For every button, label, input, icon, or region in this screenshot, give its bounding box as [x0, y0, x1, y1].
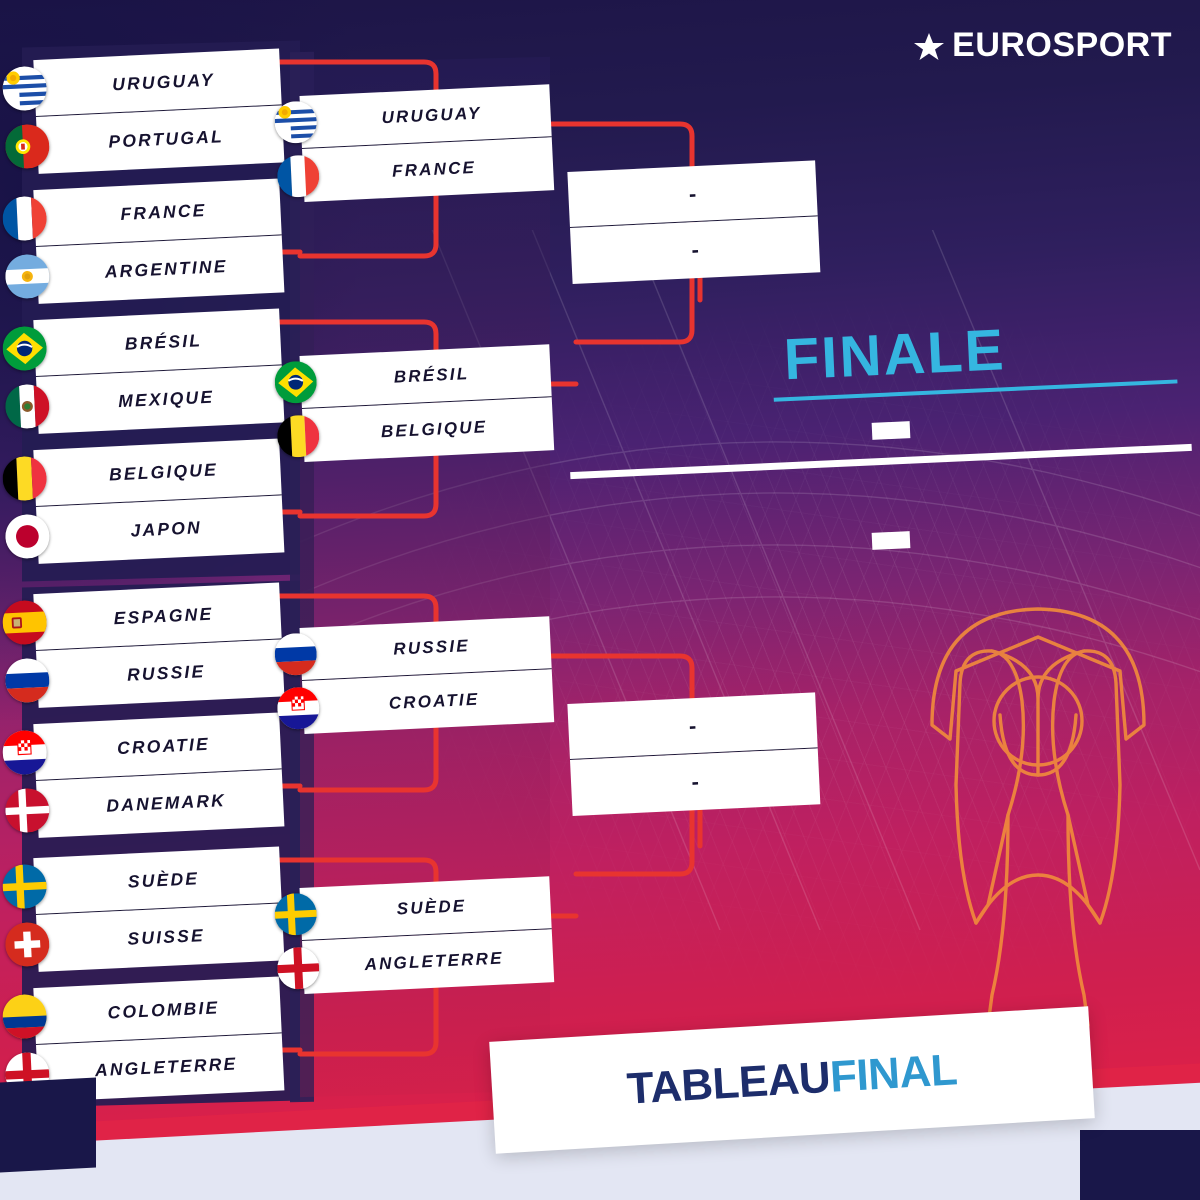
spain-flag	[2, 599, 48, 645]
match-box: SUÈDESUISSE	[33, 846, 284, 971]
team-name: SUISSE	[127, 925, 205, 950]
match-box: --	[567, 160, 820, 284]
team-name: SUÈDE	[127, 868, 199, 892]
team-slot[interactable]: ARGENTINE	[36, 235, 284, 304]
team-name: ESPAGNE	[113, 603, 214, 629]
team-name: RUSSIE	[393, 636, 470, 660]
final-team-slot-2[interactable]	[872, 531, 911, 550]
team-slot[interactable]: PORTUGAL	[36, 105, 284, 174]
team-slot[interactable]: ANGLETERRE	[302, 929, 554, 994]
team-slot[interactable]: -	[570, 748, 820, 816]
team-name: FRANCE	[120, 199, 207, 224]
match-box: ESPAGNERUSSIE	[33, 582, 284, 707]
match-box: FRANCEARGENTINE	[33, 178, 284, 303]
team-name: ARGENTINE	[104, 256, 228, 283]
argentina-flag	[4, 253, 50, 299]
team-name: DANEMARK	[106, 790, 227, 817]
russia-flag	[4, 657, 50, 703]
team-name: MEXIQUE	[118, 387, 215, 413]
team-name: ANGLETERRE	[364, 948, 504, 975]
empty-team-placeholder: -	[688, 181, 697, 207]
eurosport-logo: EUROSPORT	[912, 26, 1172, 65]
match-box: URUGUAYFRANCE	[300, 84, 555, 202]
japan-flag	[4, 513, 50, 559]
england-flag	[276, 946, 320, 990]
sweden-flag	[2, 863, 48, 909]
bottom-right-corner	[1080, 1130, 1200, 1200]
star-icon	[912, 29, 946, 63]
team-slot[interactable]: DANEMARK	[36, 769, 284, 838]
mexico-flag	[4, 383, 50, 429]
match-box: SUÈDEANGLETERRE	[300, 876, 555, 994]
team-name: FRANCE	[392, 157, 477, 181]
team-name: SUÈDE	[396, 896, 466, 919]
match-box: BRÉSILBELGIQUE	[300, 344, 555, 462]
team-slot[interactable]: FRANCE	[302, 137, 554, 202]
team-slot[interactable]: MEXIQUE	[36, 365, 284, 434]
team-name: BRÉSIL	[124, 330, 202, 355]
team-name: JAPON	[130, 517, 202, 541]
team-name: ANGLETERRE	[95, 1054, 238, 1082]
bottom-left-corner	[0, 1077, 96, 1172]
team-name: CROATIE	[388, 689, 479, 713]
team-slot[interactable]: JAPON	[36, 495, 284, 564]
match-box: CROATIEDANEMARK	[33, 712, 284, 837]
team-name: BELGIQUE	[109, 459, 219, 485]
switzerland-flag	[4, 921, 50, 967]
team-slot[interactable]: SUISSE	[36, 903, 284, 972]
team-name: PORTUGAL	[108, 126, 224, 152]
team-slot[interactable]: -	[570, 216, 820, 284]
match-box: BRÉSILMEXIQUE	[33, 308, 284, 433]
france-flag	[2, 195, 48, 241]
empty-team-placeholder: -	[688, 713, 697, 739]
team-slot[interactable]: RUSSIE	[36, 639, 284, 708]
match-box: RUSSIECROATIE	[300, 616, 555, 734]
uruguay-flag	[2, 65, 48, 111]
empty-team-placeholder: -	[691, 237, 700, 263]
banner-word-tableau: TABLEAU	[626, 1053, 832, 1114]
colombia-flag	[2, 993, 48, 1039]
team-slot[interactable]: BELGIQUE	[302, 397, 554, 462]
belgium-flag	[2, 455, 48, 501]
match-box: --	[567, 692, 820, 816]
belgium-flag	[276, 414, 320, 458]
france-flag	[276, 154, 320, 198]
brazil-flag	[2, 325, 48, 371]
match-box: BELGIQUEJAPON	[33, 438, 284, 563]
team-name: BELGIQUE	[380, 417, 487, 442]
team-name: URUGUAY	[112, 69, 215, 95]
croatia-flag	[276, 686, 320, 730]
team-name: COLOMBIE	[107, 997, 220, 1023]
team-name: BRÉSIL	[393, 364, 469, 388]
team-slot[interactable]: CROATIE	[302, 669, 554, 734]
team-name: RUSSIE	[127, 661, 206, 686]
portugal-flag	[4, 123, 50, 169]
final-team-slot-1[interactable]	[872, 421, 911, 440]
eurosport-wordmark: EUROSPORT	[952, 26, 1172, 65]
match-box: URUGUAYPORTUGAL	[33, 48, 284, 173]
croatia-flag	[2, 729, 48, 775]
banner-word-final: FINAL	[829, 1045, 959, 1101]
denmark-flag	[4, 787, 50, 833]
empty-team-placeholder: -	[691, 769, 700, 795]
team-name: CROATIE	[117, 733, 211, 758]
team-name: URUGUAY	[381, 104, 482, 129]
